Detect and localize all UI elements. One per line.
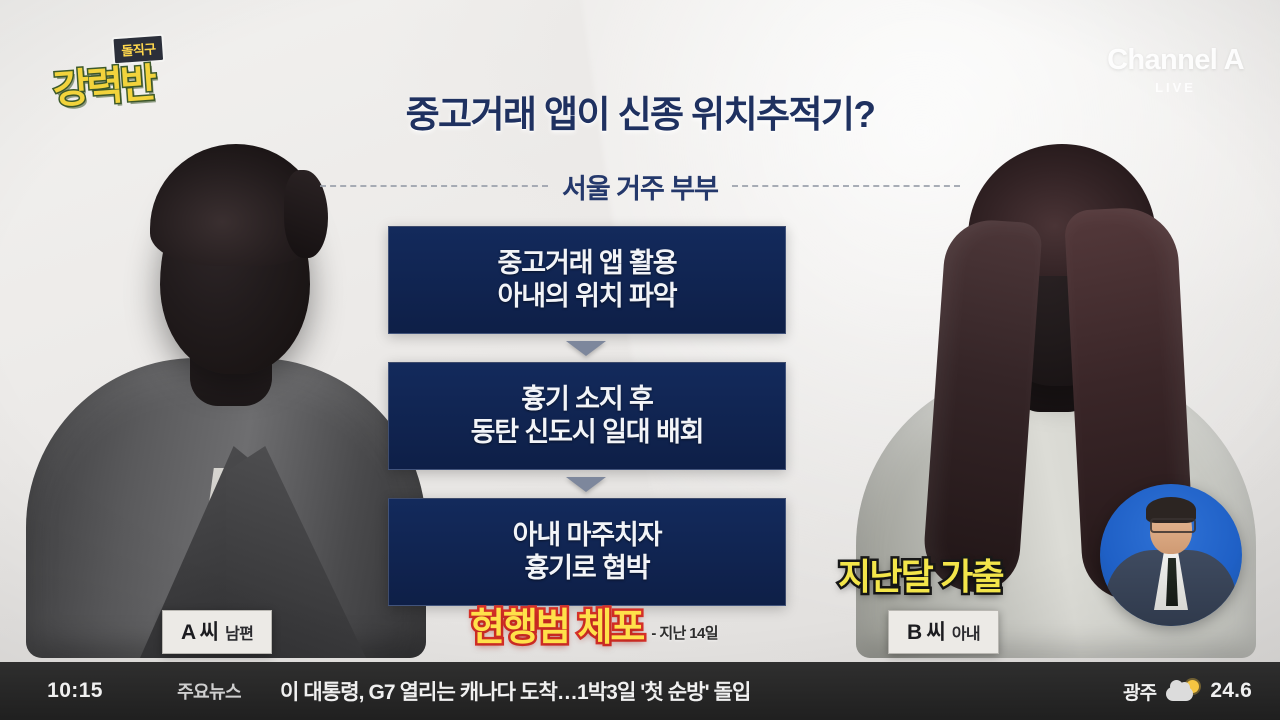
name-plate-husband-code: A 씨 xyxy=(181,616,218,646)
name-plate-wife: B 씨 아내 xyxy=(888,610,999,654)
flow-step-3-line-1: 아내 마주치자 xyxy=(513,521,662,550)
name-plate-wife-code: B 씨 xyxy=(907,616,945,646)
ticker-section-label: 주요뉴스 xyxy=(150,678,268,704)
flow-step-1-line-1: 중고거래 앱 활용 xyxy=(498,249,677,278)
subtitle-text: 서울 거주 부부 xyxy=(562,167,718,206)
subtitle-row: 서울 거주 부부 xyxy=(320,168,960,204)
arrest-date-note: - 지난 14일 xyxy=(651,622,718,651)
flow-step-1-line-2: 아내의 위치 파악 xyxy=(498,282,677,311)
arrest-caption: 현행범 체포 - 지난 14일 xyxy=(470,596,718,651)
flow-arrow-down-icon-1 xyxy=(388,334,784,362)
flow-arrow-down-icon-2 xyxy=(388,470,784,498)
dashed-rule-left xyxy=(320,185,548,187)
name-plate-husband: A 씨 남편 xyxy=(162,610,272,654)
case-flow-diagram: 중고거래 앱 활용 아내의 위치 파악 흉기 소지 후 동탄 신도시 일대 배회… xyxy=(388,226,784,606)
arrest-text: 현행범 체포 xyxy=(470,596,643,651)
ticker-clock: 10:15 xyxy=(0,679,150,703)
partly-cloudy-icon xyxy=(1166,679,1200,703)
flow-step-3: 아내 마주치자 흉기로 협박 xyxy=(388,498,786,606)
weather-temperature: 24.6 xyxy=(1210,679,1252,703)
flow-step-2-line-1: 흉기 소지 후 xyxy=(521,385,653,414)
ticker-headline: 이 대통령, G7 열리는 캐나다 도착…1박3일 '첫 순방' 돌입 xyxy=(268,676,1123,706)
runaway-tag: 지난달 가출 xyxy=(838,548,1003,600)
name-plate-wife-role: 아내 xyxy=(952,620,980,644)
flow-step-2-line-2: 동탄 신도시 일대 배회 xyxy=(471,418,704,447)
flow-step-2: 흉기 소지 후 동탄 신도시 일대 배회 xyxy=(388,362,786,470)
channel-name: Channel A xyxy=(1107,44,1244,77)
weather-city: 광주 xyxy=(1123,678,1156,705)
dashed-rule-right xyxy=(732,185,960,187)
broadcast-frame: 돌직구 강력반 Channel A LIVE 중고거래 앱이 신종 위치추적기?… xyxy=(0,0,1280,720)
ticker-weather: 광주 24.6 xyxy=(1123,678,1280,705)
glasses-icon xyxy=(1150,518,1196,533)
anchor-inset xyxy=(1100,484,1242,626)
name-plate-husband-role: 남편 xyxy=(225,620,253,644)
flow-step-3-line-2: 흉기로 협박 xyxy=(524,554,649,583)
flow-step-1: 중고거래 앱 활용 아내의 위치 파악 xyxy=(388,226,786,334)
news-ticker-bar: 10:15 주요뉴스 이 대통령, G7 열리는 캐나다 도착…1박3일 '첫 … xyxy=(0,662,1280,720)
headline-title: 중고거래 앱이 신종 위치추적기? xyxy=(0,84,1280,138)
